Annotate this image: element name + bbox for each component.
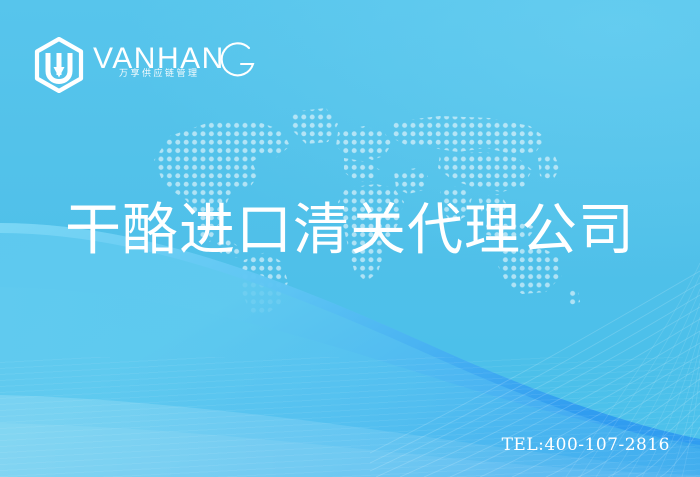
telephone-text: TEL:400-107-2816 <box>502 435 670 455</box>
bottom-ripple-texture <box>0 357 700 477</box>
logo-subtitle: 万享供应链管理 <box>119 70 200 79</box>
hexagon-u-mark-icon <box>33 37 85 93</box>
brand-logo[interactable]: VANHAN 万享供应链管理 <box>33 36 93 94</box>
promo-banner: VANHAN 万享供应链管理 干酪进口清关代理公司 TEL:400-107-28… <box>0 0 700 477</box>
page-title: 干酪进口清关代理公司 <box>0 203 700 259</box>
logo-g-outline-icon <box>215 34 263 82</box>
